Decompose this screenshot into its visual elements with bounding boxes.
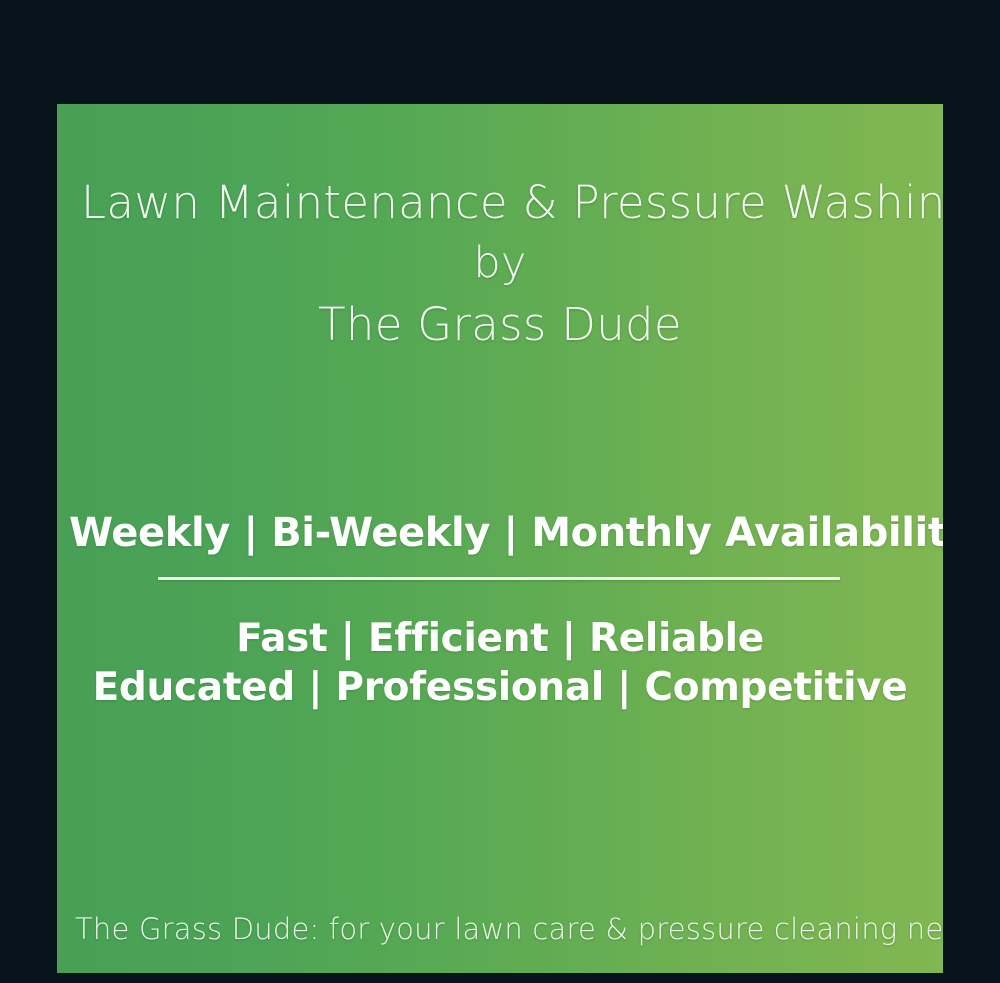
title-line-business-name: The Grass Dude	[81, 294, 919, 355]
page-background: Lawn Maintenance & Pressure Washing by T…	[0, 0, 1000, 983]
qualities-line-2: Educated | Professional | Competitive	[69, 663, 931, 712]
availability-text: Weekly | Bi-Weekly | Monthly Availabilit…	[69, 508, 931, 558]
qualities-block: Fast | Efficient | Reliable Educated | P…	[57, 614, 943, 712]
flyer-title-block: Lawn Maintenance & Pressure Washing by T…	[57, 172, 943, 355]
title-line-connector: by	[81, 233, 919, 294]
tagline-text: The Grass Dude: for your lawn care & pre…	[75, 910, 925, 948]
section-divider	[158, 577, 840, 580]
availability-block: Weekly | Bi-Weekly | Monthly Availabilit…	[57, 508, 943, 558]
flyer-panel: Lawn Maintenance & Pressure Washing by T…	[57, 104, 943, 973]
qualities-line-1: Fast | Efficient | Reliable	[69, 614, 931, 663]
tagline-block: The Grass Dude: for your lawn care & pre…	[57, 910, 943, 948]
title-line-services: Lawn Maintenance & Pressure Washing	[81, 172, 919, 233]
